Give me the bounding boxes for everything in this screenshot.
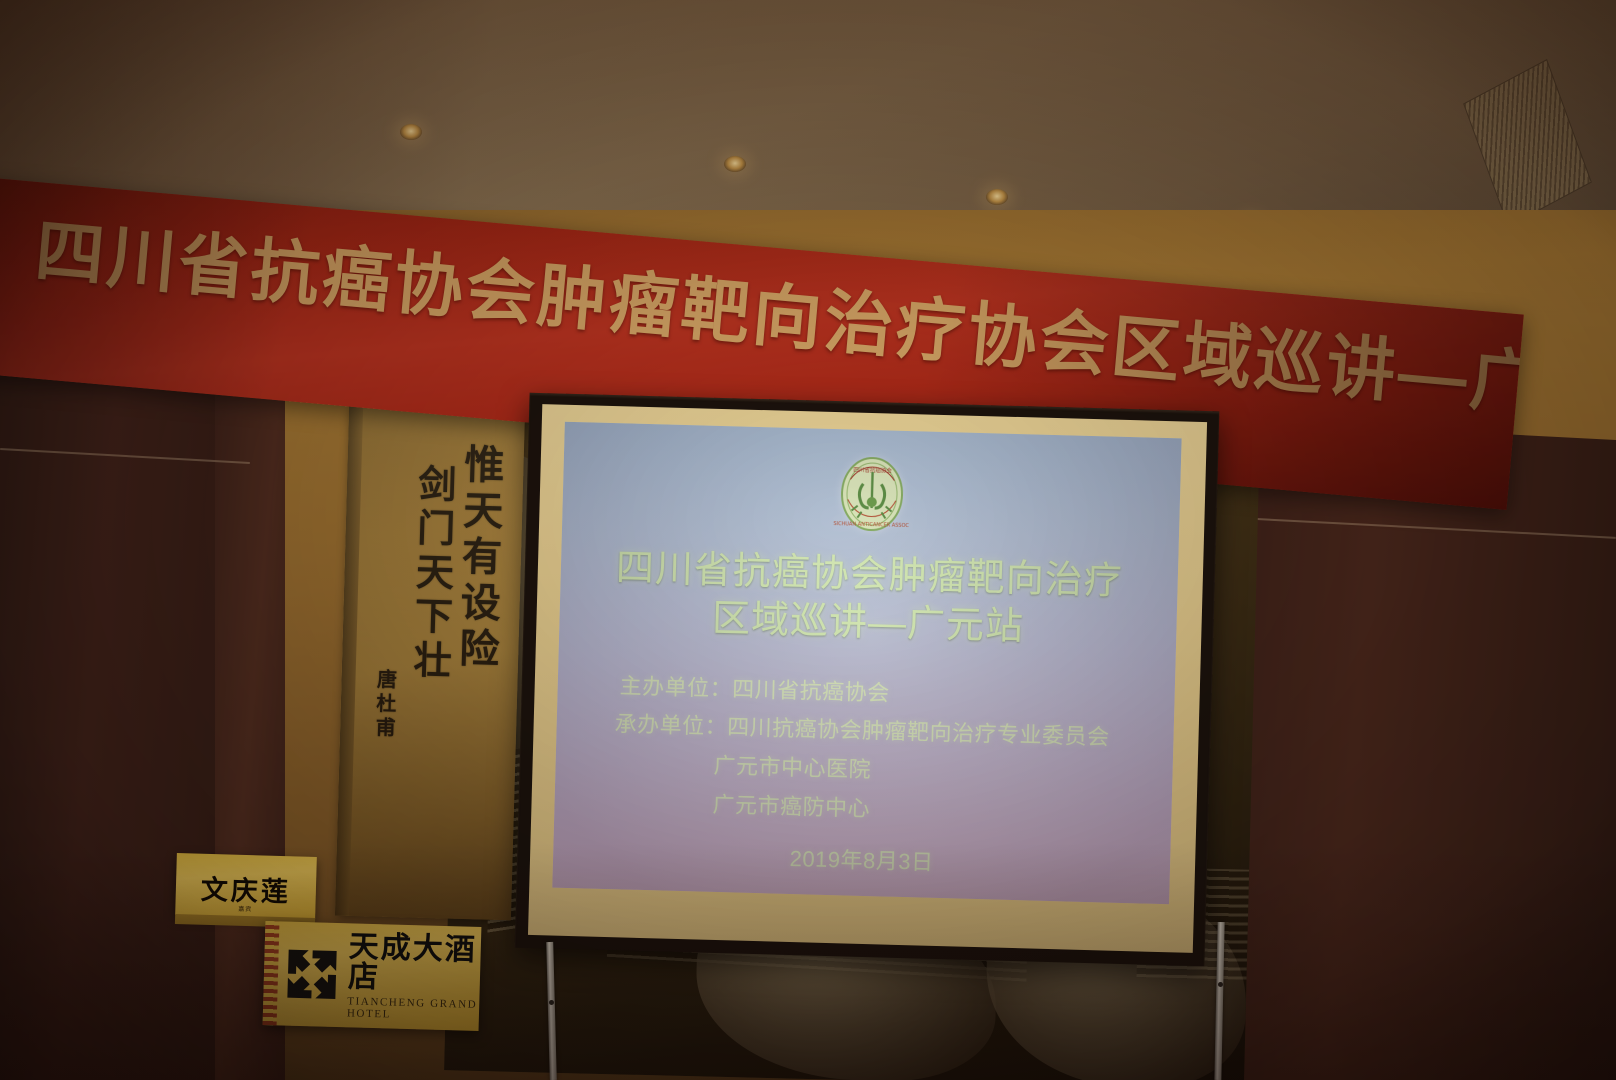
hotel-sign-border — [263, 921, 280, 1025]
scroll-line-1: 惟天有设险 — [446, 443, 510, 675]
screen-stand-bolt — [1218, 982, 1223, 987]
projected-slide: 四川省抗癌协会 SICHUAN ANTICANCER ASSOC 四川省抗癌协会… — [552, 422, 1181, 905]
downlight-icon — [986, 189, 1008, 205]
wood-panel-left — [0, 323, 230, 1080]
hotel-name-cn: 天成大酒店 — [348, 932, 482, 996]
slide-body-line-4: 广元市癌防中心 — [712, 794, 870, 820]
svg-text:SICHUAN ANTICANCER ASSOC: SICHUAN ANTICANCER ASSOC — [833, 521, 909, 529]
name-placard: 文庆莲 嘉宾 — [175, 853, 317, 919]
hotel-name-en: TIANCHENG GRAND HOTEL — [347, 995, 480, 1023]
hotel-sign: 天成大酒店 TIANCHENG GRAND HOTEL — [263, 921, 482, 1031]
downlight-icon — [724, 156, 746, 172]
photo-scene: 惟天有设险 剑门天下壮 唐杜甫 四川省抗癌协会肿瘤靶向治疗协会区域巡讲—广元站 … — [0, 0, 1616, 1080]
slide-title-line-1: 四川省抗癌协会肿瘤靶向治疗 — [560, 544, 1178, 607]
slide-date: 2019年8月3日 — [553, 842, 1170, 881]
slide-body-line-3: 广元市中心医院 — [713, 755, 871, 781]
screen-stand-bolt — [549, 1000, 554, 1005]
slide-body-line-1: 主办单位：四川省抗癌协会 — [619, 675, 890, 704]
downlight-icon — [400, 124, 422, 140]
projection-screen: 四川省抗癌协会 SICHUAN ANTICANCER ASSOC 四川省抗癌协会… — [515, 393, 1220, 966]
scroll-line-2: 剑门天下壮 — [400, 463, 461, 684]
slide-body-line-2: 承办单位：四川抗癌协会肿瘤靶向治疗专业委员会 — [614, 713, 1109, 748]
scroll-signature: 唐杜甫 — [369, 668, 400, 741]
slide-title-line-2: 区域巡讲—广元站 — [559, 592, 1177, 655]
calligraphy-scroll: 惟天有设险 剑门天下壮 唐杜甫 — [335, 406, 525, 921]
four-arrows-logo-icon — [283, 946, 341, 1004]
hotel-sign-text: 天成大酒店 TIANCHENG GRAND HOTEL — [347, 932, 481, 1023]
sichuan-anticancer-association-emblem-icon: 四川省抗癌协会 SICHUAN ANTICANCER ASSOC — [830, 449, 912, 539]
svg-text:四川省抗癌协会: 四川省抗癌协会 — [853, 466, 892, 475]
screen-surface: 四川省抗癌协会 SICHUAN ANTICANCER ASSOC 四川省抗癌协会… — [528, 404, 1207, 953]
